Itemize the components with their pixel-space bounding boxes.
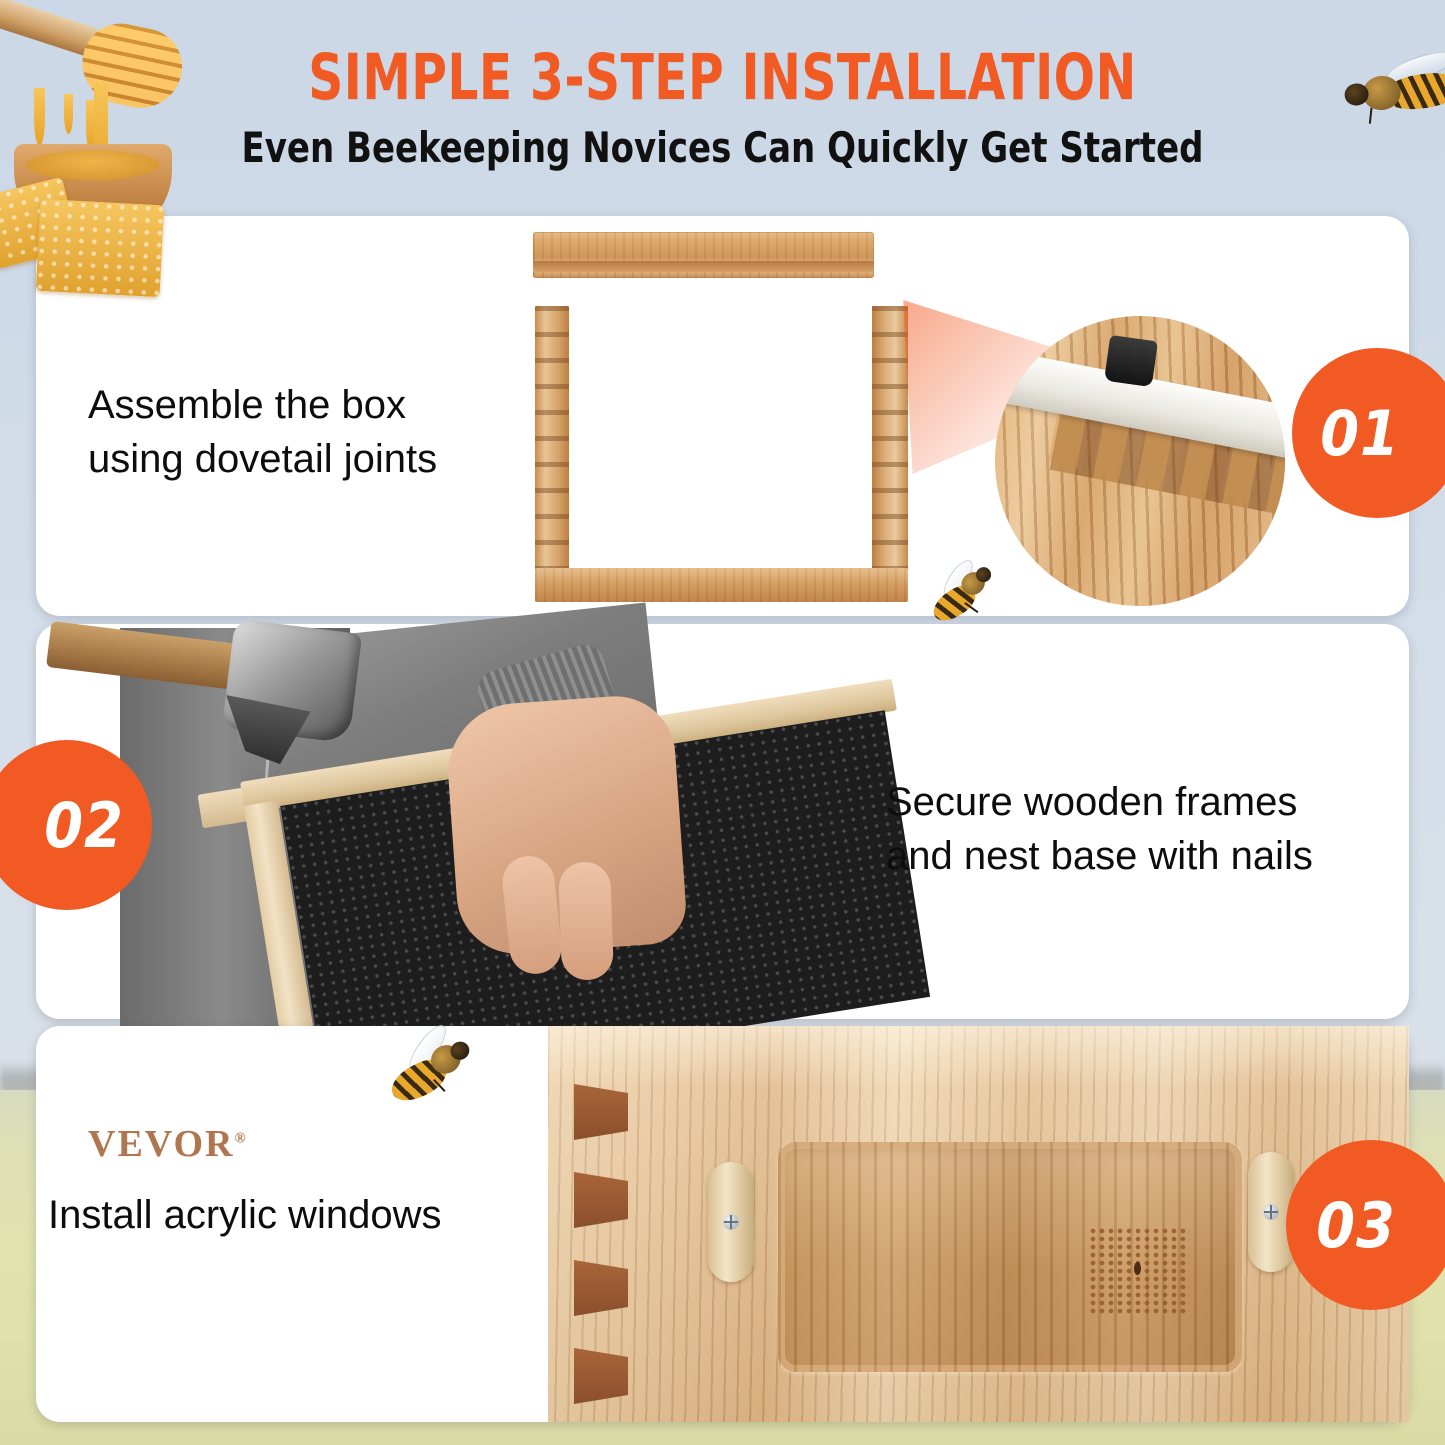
page-subtitle: Even Beekeeping Novices Can Quickly Get … — [72, 110, 1373, 170]
trademark-symbol: ® — [234, 1130, 247, 1146]
step-1-text: Assemble the box using dovetail joints — [88, 378, 437, 486]
black-knob-icon — [1104, 335, 1158, 387]
step-number-03: 03 — [1316, 1189, 1396, 1262]
vent-center-hole — [1134, 1262, 1141, 1275]
honey-decoration-cluster — [0, 0, 234, 296]
step-number-02: 02 — [44, 789, 124, 862]
hive-box-bottom-rail — [535, 568, 908, 602]
hive-box-right-stile — [872, 306, 908, 586]
infographic-canvas: SIMPLE 3-STEP INSTALLATION Even Beekeepi… — [0, 0, 1445, 1445]
page-title: SIMPLE 3-STEP INSTALLATION — [101, 0, 1344, 110]
brand-name: VEVOR — [88, 1123, 234, 1165]
step-number-01: 01 — [1320, 397, 1400, 470]
screw-icon — [723, 1214, 739, 1230]
hive-box-top-rail — [533, 232, 874, 278]
dovetail-detail-circle — [995, 316, 1285, 606]
hive-box-left-stile — [535, 306, 569, 586]
step-badge-03: 03 — [1286, 1140, 1445, 1310]
screw-icon — [1263, 1204, 1279, 1220]
honeycomb-piece — [36, 199, 165, 297]
finger — [558, 861, 614, 981]
honey-pool — [26, 150, 160, 180]
step-3-text: Install acrylic windows — [48, 1188, 441, 1242]
vevor-brand-logo: VEVOR® — [88, 1122, 248, 1166]
step-2-text: Secure wooden frames and nest base with … — [886, 775, 1313, 883]
